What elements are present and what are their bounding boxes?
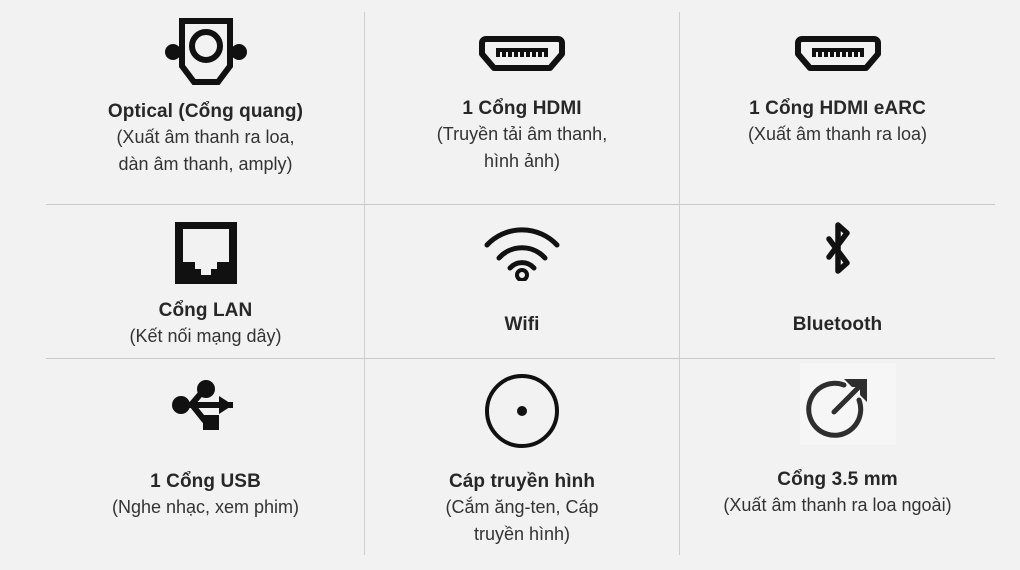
hdmi-earc-port-icon: [792, 30, 884, 78]
cell-title: Cáp truyền hình: [365, 469, 679, 494]
cell-title: Cổng LAN: [47, 298, 364, 323]
cell-title: Optical (Cổng quang): [47, 99, 364, 124]
coaxial-antenna-icon: [482, 371, 562, 451]
optical-labels: Optical (Cổng quang) (Xuất âm thanh ra l…: [47, 99, 364, 177]
optical-port-icon: [165, 16, 247, 88]
cell-usb: 1 Cổng USB (Nghe nhạc, xem phim): [47, 359, 364, 570]
cell-wifi: Wifi: [365, 205, 679, 358]
coaxial-labels: Cáp truyền hình (Cắm ăng-ten, Cáp truyền…: [365, 469, 679, 547]
cell-subtitle-line: truyền hình): [365, 521, 679, 548]
bluetooth-icon: [816, 219, 860, 285]
usb-labels: 1 Cổng USB (Nghe nhạc, xem phim): [47, 469, 364, 521]
usb-port-icon: [167, 378, 245, 434]
cell-bluetooth: Bluetooth: [680, 205, 995, 358]
hdmi-port-icon: [476, 30, 568, 78]
cell-subtitle-line: (Cắm ăng-ten, Cáp: [365, 494, 679, 521]
cell-lan: Cổng LAN (Kết nối mạng dây): [47, 205, 364, 358]
hdmi-earc-labels: 1 Cổng HDMI eARC (Xuất âm thanh ra loa): [680, 96, 995, 148]
wifi-labels: Wifi: [365, 312, 679, 337]
bluetooth-labels: Bluetooth: [680, 312, 995, 337]
cell-subtitle-line: dàn âm thanh, amply): [47, 151, 364, 178]
cell-subtitle-line: hình ảnh): [365, 148, 679, 175]
wifi-icon: [483, 223, 561, 283]
cell-subtitle-line: (Xuất âm thanh ra loa): [680, 121, 995, 148]
cell-optical: Optical (Cổng quang) (Xuất âm thanh ra l…: [47, 0, 364, 204]
cell-title: Bluetooth: [680, 312, 995, 337]
cell-subtitle-line: (Nghe nhạc, xem phim): [47, 494, 364, 521]
cell-title: Cổng 3.5 mm: [680, 467, 995, 492]
cell-subtitle-line: (Xuất âm thanh ra loa,: [47, 124, 364, 151]
lan-labels: Cổng LAN (Kết nối mạng dây): [47, 298, 364, 350]
cell-title: 1 Cổng HDMI eARC: [680, 96, 995, 121]
cell-subtitle-line: (Kết nối mạng dây): [47, 323, 364, 350]
cell-subtitle-line: (Truyền tải âm thanh,: [365, 121, 679, 148]
cell-title: Wifi: [365, 312, 679, 337]
cell-audio-jack: Cổng 3.5 mm (Xuất âm thanh ra loa ngoài): [680, 359, 995, 570]
audio-jack-arrow-icon: [800, 363, 876, 449]
hdmi-labels: 1 Cổng HDMI (Truyền tải âm thanh, hình ả…: [365, 96, 679, 174]
cell-subtitle-line: (Xuất âm thanh ra loa ngoài): [680, 492, 995, 519]
cell-hdmi: 1 Cổng HDMI (Truyền tải âm thanh, hình ả…: [365, 0, 679, 204]
cell-title: 1 Cổng HDMI: [365, 96, 679, 121]
connectivity-grid: Optical (Cổng quang) (Xuất âm thanh ra l…: [0, 0, 1020, 570]
cell-coaxial: Cáp truyền hình (Cắm ăng-ten, Cáp truyền…: [365, 359, 679, 570]
cell-hdmi-earc: 1 Cổng HDMI eARC (Xuất âm thanh ra loa): [680, 0, 995, 204]
lan-port-icon: [175, 222, 237, 284]
cell-title: 1 Cổng USB: [47, 469, 364, 494]
audio-jack-labels: Cổng 3.5 mm (Xuất âm thanh ra loa ngoài): [680, 467, 995, 519]
